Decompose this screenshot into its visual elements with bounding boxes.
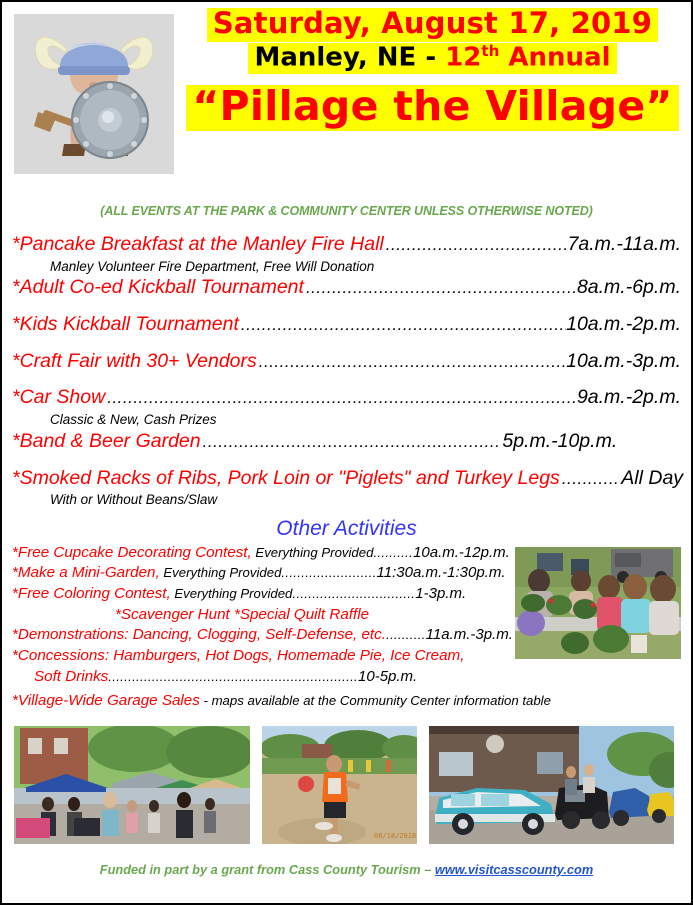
garage-sales-note: - maps available at the Community Center… (200, 693, 551, 708)
event-name: *Kids Kickball Tournament (12, 312, 239, 338)
event-time: All Day (621, 467, 683, 489)
dot-leader: ........................................… (201, 432, 503, 451)
activity-row: *Scavenger Hunt *Special Quilt Raffle (12, 605, 512, 626)
car-show-photo-image (429, 726, 674, 844)
dot-leader: ........... (560, 469, 621, 488)
event-time: 9a.m.-2p.m. (577, 385, 681, 411)
event-row: *Smoked Racks of Ribs, Pork Loin or "Pig… (12, 466, 681, 492)
dot-leader: ........................................… (304, 277, 577, 299)
other-activities-heading: Other Activities (2, 517, 691, 541)
event-subnote: With or Without Beans/Slaw (50, 491, 681, 509)
activity-time: 11:30a.m.-1:30p.m. (377, 564, 506, 581)
place-line-wrap: Manley, NE - 12th Annual (180, 42, 685, 74)
event-subnote: Classic & New, Cash Prizes (50, 411, 681, 429)
event-row: *Adult Co-ed Kickball Tournament .......… (12, 275, 681, 301)
event-row: *Band & Beer Garden.....................… (12, 429, 681, 455)
dot-leader: .......... (373, 545, 413, 560)
viking-mascot-image (14, 14, 174, 174)
event-time: 5p.m.-10p.m. (502, 430, 617, 452)
event-title: “Pillage the Village” (186, 85, 678, 131)
activity-name: *Make a Mini-Garden, (12, 564, 160, 581)
garage-sales-name: *Village-Wide Garage Sales (12, 692, 200, 709)
viking-mascot-icon (14, 14, 174, 174)
event-name: *Smoked Racks of Ribs, Pork Loin or "Pig… (12, 467, 560, 489)
kickball-photo-image: 08/18/2018 (262, 726, 417, 844)
garage-sales-row: *Village-Wide Garage Sales - maps availa… (12, 691, 681, 712)
dot-leader: ........................................… (384, 234, 568, 256)
event-time: 7a.m.-11a.m. (568, 232, 681, 258)
event-name: *Adult Co-ed Kickball Tournament (12, 275, 304, 301)
mini-garden-photo-image (515, 547, 681, 659)
event-row: *Pancake Breakfast at the Manley Fire Ha… (12, 232, 681, 258)
footer: Funded in part by a grant from Cass Coun… (2, 862, 691, 877)
activity-row: *Make a Mini-Garden, Everything Provided… (12, 563, 512, 584)
dot-leader: ............................... (292, 586, 415, 601)
other-activities-section: *Free Cupcake Decorating Contest, Everyt… (12, 543, 681, 712)
activity-note: Everything Provided (252, 545, 374, 560)
activity-name: *Scavenger Hunt *Special Quilt Raffle (115, 606, 369, 623)
title-block: Saturday, August 17, 2019 Manley, NE - 1… (180, 8, 685, 131)
dot-leader: .......... (386, 627, 426, 642)
event-time: 10a.m.-2p.m. (566, 312, 681, 338)
activity-note: Everything Provided (171, 586, 293, 601)
activity-name: *Free Coloring Contest, (12, 585, 171, 602)
place-line: Manley, NE - 12th Annual (248, 43, 616, 74)
activity-row: *Demonstrations: Dancing, Clogging, Self… (12, 625, 512, 646)
event-title-wrap: “Pillage the Village” (180, 74, 685, 131)
activity-row: *Concessions: Hamburgers, Hot Dogs, Home… (12, 646, 512, 667)
activity-note: Everything Provided (160, 565, 282, 580)
event-list: *Pancake Breakfast at the Manley Fire Ha… (12, 232, 681, 509)
dot-leader: ........................................… (108, 669, 358, 684)
event-row: *Craft Fair with 30+ Vendors ...........… (12, 349, 681, 375)
date-line: Saturday, August 17, 2019 (207, 8, 658, 42)
dot-leader: ........................ (281, 565, 376, 580)
event-subnote: Manley Volunteer Fire Department, Free W… (50, 258, 681, 276)
event-name: *Band & Beer Garden (12, 430, 201, 452)
svg-text:08/18/2018: 08/18/2018 (374, 832, 416, 840)
event-row: *Car Show ..............................… (12, 385, 681, 411)
kickball-photo: 08/18/2018 (262, 726, 417, 844)
activity-time: 1-3p.m. (415, 585, 466, 602)
mini-garden-photo (515, 547, 681, 659)
event-name: *Pancake Breakfast at the Manley Fire Ha… (12, 232, 384, 258)
date-line-wrap: Saturday, August 17, 2019 (180, 8, 685, 42)
activity-name: Soft Drinks (34, 668, 108, 685)
annual-word: Annual (499, 42, 610, 72)
craft-fair-photo-image (14, 726, 250, 844)
venue-note: (ALL EVENTS AT THE PARK & COMMUNITY CENT… (2, 204, 691, 218)
activity-time: 10-5p.m. (358, 668, 417, 685)
dot-leader: ........................................… (105, 387, 577, 409)
funding-text: Funded in part by a grant from Cass Coun… (100, 862, 435, 877)
place-prefix: Manley, NE - (254, 42, 445, 72)
activity-row: *Free Cupcake Decorating Contest, Everyt… (12, 543, 512, 564)
event-name: *Craft Fair with 30+ Vendors (12, 349, 257, 375)
ordinal-suffix: th (481, 42, 499, 60)
event-time: 10a.m.-3p.m. (566, 349, 681, 375)
photo-strip: 08/18/2018 (14, 726, 679, 844)
event-row: *Kids Kickball Tournament ..............… (12, 312, 681, 338)
activity-row: *Free Coloring Contest, Everything Provi… (12, 584, 512, 605)
tourism-url-link[interactable]: www.visitcasscounty.com (435, 862, 593, 877)
ordinal-number: 12 (445, 42, 481, 72)
car-show-photo (429, 726, 674, 844)
dot-leader: ........................................… (239, 314, 566, 336)
activity-time: 11a.m.-3p.m. (426, 626, 513, 643)
other-activities-list: *Free Cupcake Decorating Contest, Everyt… (12, 543, 512, 688)
activity-name: *Concessions: Hamburgers, Hot Dogs, Home… (12, 647, 464, 664)
dot-leader: ........................................… (257, 351, 566, 373)
event-time: 8a.m.-6p.m. (577, 275, 681, 301)
craft-fair-photo (14, 726, 250, 844)
activity-row: Soft Drinks.............................… (12, 667, 512, 688)
flyer-page: Saturday, August 17, 2019 Manley, NE - 1… (0, 0, 693, 905)
event-name: *Car Show (12, 385, 105, 411)
activity-name: *Demonstrations: Dancing, Clogging, Self… (12, 626, 386, 643)
activity-time: 10a.m.-12p.m. (413, 544, 510, 561)
activity-name: *Free Cupcake Decorating Contest, (12, 544, 252, 561)
flyer-header: Saturday, August 17, 2019 Manley, NE - 1… (2, 2, 691, 188)
